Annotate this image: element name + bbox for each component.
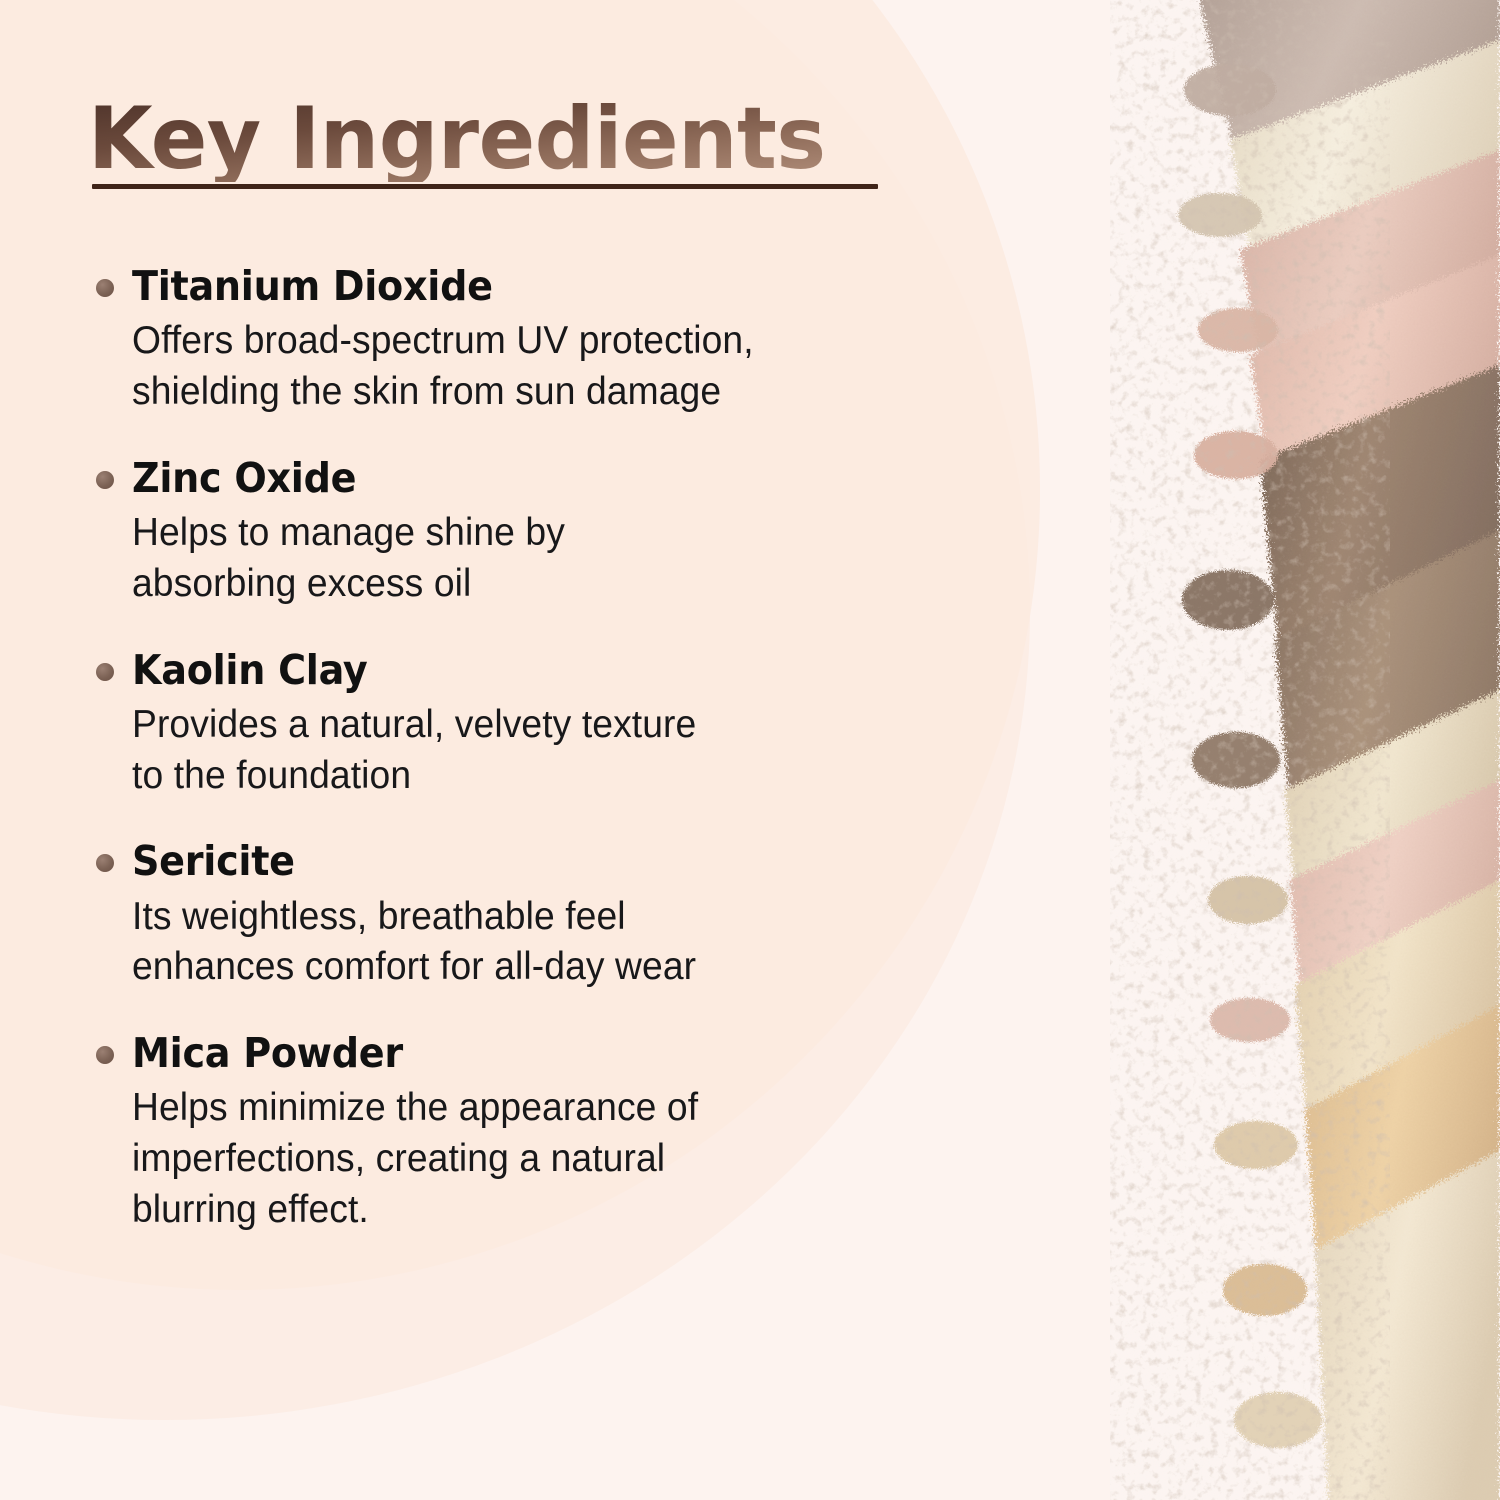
list-item: Kaolin Clay Provides a natural, velvety … xyxy=(88,646,988,802)
list-item: Sericite Its weightless, breathable feel… xyxy=(88,837,988,993)
ingredient-name: Titanium Dioxide xyxy=(132,262,928,310)
text-column: Key Ingredients Titanium Dioxide Offers … xyxy=(0,0,1010,1500)
bullet-dot-icon xyxy=(96,663,114,681)
list-item: Titanium Dioxide Offers broad-spectrum U… xyxy=(88,262,988,418)
bullet-dot-icon xyxy=(96,279,114,297)
powder-swatch-illustration xyxy=(1110,0,1500,1500)
ingredient-description: Helps minimize the appearance of imperfe… xyxy=(132,1083,949,1235)
ingredient-name: Kaolin Clay xyxy=(132,646,928,694)
surface-texture xyxy=(1110,0,1500,1500)
ingredient-name: Mica Powder xyxy=(132,1029,928,1077)
page-title: Key Ingredients xyxy=(88,96,883,182)
ingredient-description: Provides a natural, velvety texture to t… xyxy=(132,700,949,801)
bullet-dot-icon xyxy=(96,471,114,489)
ingredient-name: Zinc Oxide xyxy=(132,454,928,502)
title-underline xyxy=(92,184,878,189)
powder-swatch-image xyxy=(1110,0,1500,1500)
product-infographic: Key Ingredients Titanium Dioxide Offers … xyxy=(0,0,1500,1500)
ingredient-description: Offers broad-spectrum UV protection, shi… xyxy=(132,316,949,417)
ingredient-description: Helps to manage shine by absorbing exces… xyxy=(132,508,949,609)
ingredient-description: Its weightless, breathable feel enhances… xyxy=(132,892,949,993)
bullet-dot-icon xyxy=(96,854,114,872)
page-title-block: Key Ingredients xyxy=(88,96,908,182)
ingredients-list: Titanium Dioxide Offers broad-spectrum U… xyxy=(88,262,988,1235)
list-item: Zinc Oxide Helps to manage shine by abso… xyxy=(88,454,988,610)
list-item: Mica Powder Helps minimize the appearanc… xyxy=(88,1029,988,1235)
ingredient-name: Sericite xyxy=(132,837,928,885)
bullet-dot-icon xyxy=(96,1046,114,1064)
